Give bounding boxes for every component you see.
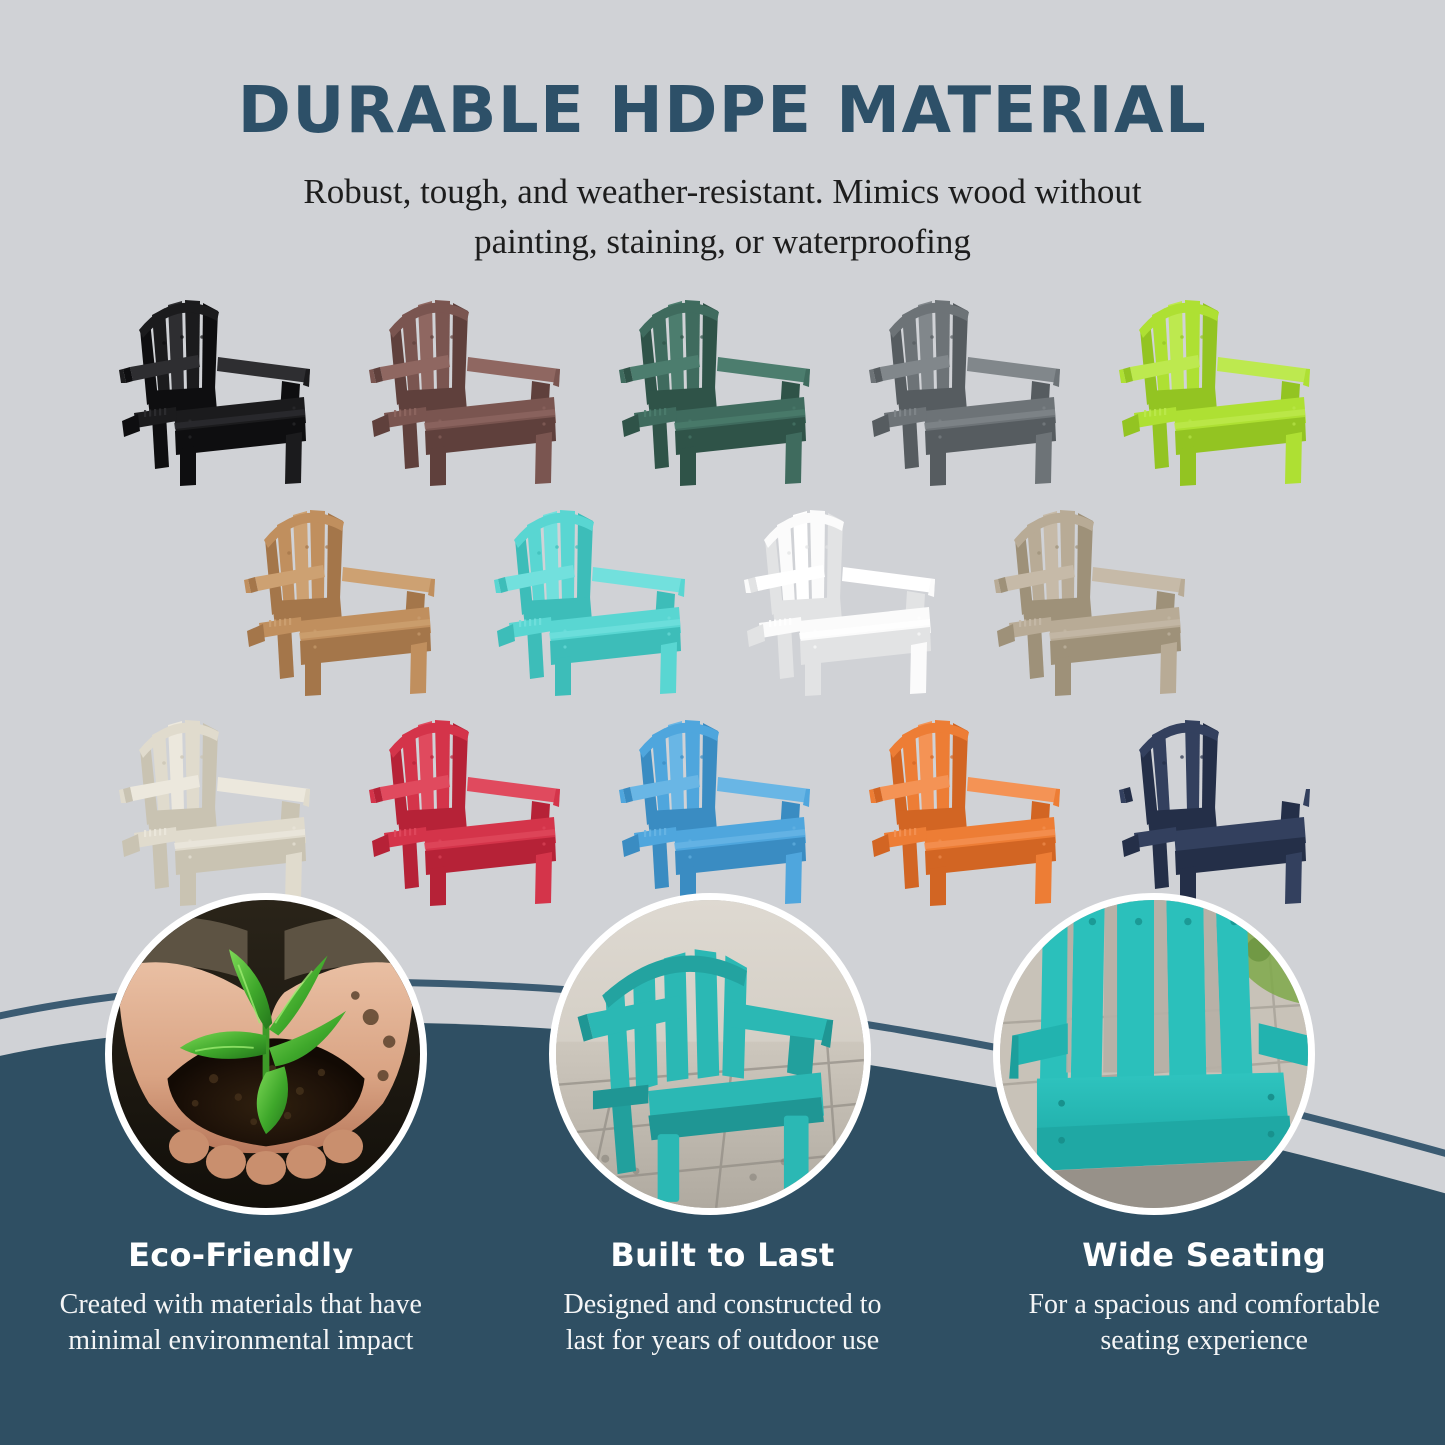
- feature-photos: [0, 893, 1445, 1223]
- chair-row-3: [0, 688, 1445, 910]
- chair-gray[interactable]: [859, 268, 1087, 490]
- adirondack-chair-illustration: [1119, 720, 1310, 906]
- chair-row-2: [0, 478, 1445, 700]
- page-subtitle: Robust, tough, and weather-resistant. Mi…: [0, 167, 1445, 266]
- adirondack-chair-illustration: [869, 300, 1060, 486]
- feature-title: Built to Last: [496, 1236, 950, 1274]
- feature-description: Created with materials that have minimal…: [14, 1287, 468, 1360]
- chair-light-blue[interactable]: [609, 688, 837, 910]
- adirondack-chair-illustration: [369, 300, 560, 486]
- adirondack-chair-illustration: [994, 510, 1185, 696]
- feature-desc-line-1: Designed and constructed to: [496, 1287, 950, 1323]
- adirondack-chair-illustration: [869, 720, 1060, 906]
- adirondack-chair-illustration: [369, 720, 560, 906]
- infographic-page: DURABLE HDPE MATERIAL Robust, tough, and…: [0, 0, 1445, 1445]
- wide-seat-closeup-photo: [993, 893, 1315, 1215]
- chair-teak[interactable]: [234, 478, 462, 700]
- adirondack-chair-illustration: [119, 300, 310, 486]
- adirondack-chair-illustration: [619, 300, 810, 486]
- chair-orange[interactable]: [859, 688, 1087, 910]
- adirondack-chair-illustration: [119, 720, 310, 906]
- subtitle-line-1: Robust, tough, and weather-resistant. Mi…: [0, 167, 1445, 217]
- chair-navy-blue[interactable]: [1109, 688, 1337, 910]
- feature-desc-line-1: Created with materials that have: [14, 1287, 468, 1323]
- adirondack-chair-illustration: [744, 510, 935, 696]
- feature-captions: Eco-Friendly Created with materials that…: [0, 1236, 1445, 1360]
- feature-title: Wide Seating: [977, 1236, 1431, 1274]
- chair-dark-green[interactable]: [609, 268, 837, 490]
- page-title: DURABLE HDPE MATERIAL: [0, 78, 1445, 145]
- chair-white[interactable]: [734, 478, 962, 700]
- turquoise-chair-on-patio-photo: [549, 893, 871, 1215]
- chair-black[interactable]: [109, 268, 337, 490]
- adirondack-chair-illustration: [244, 510, 435, 696]
- feature-desc-line-2: minimal environmental impact: [14, 1323, 468, 1359]
- feature-description: For a spacious and comfortable seating e…: [977, 1287, 1431, 1360]
- adirondack-chair-illustration: [494, 510, 685, 696]
- chair-lime-green[interactable]: [1109, 268, 1337, 490]
- chair-brown[interactable]: [359, 268, 587, 490]
- feature-desc-line-2: last for years of outdoor use: [496, 1323, 950, 1359]
- chair-color-grid: [0, 268, 1445, 910]
- feature-built-to-last: Built to Last Designed and constructed t…: [482, 1236, 964, 1360]
- chair-weathered-wood[interactable]: [984, 478, 1212, 700]
- subtitle-line-2: painting, staining, or waterproofing: [0, 217, 1445, 267]
- chair-ivory[interactable]: [109, 688, 337, 910]
- feature-eco-friendly: Eco-Friendly Created with materials that…: [0, 1236, 482, 1360]
- feature-title: Eco-Friendly: [14, 1236, 468, 1274]
- header: DURABLE HDPE MATERIAL Robust, tough, and…: [0, 0, 1445, 267]
- chair-turquoise[interactable]: [484, 478, 712, 700]
- feature-desc-line-2: seating experience: [977, 1323, 1431, 1359]
- adirondack-chair-illustration: [1119, 300, 1310, 486]
- feature-desc-line-1: For a spacious and comfortable: [977, 1287, 1431, 1323]
- feature-wide-seating: Wide Seating For a spacious and comforta…: [963, 1236, 1445, 1360]
- feature-description: Designed and constructed to last for yea…: [496, 1287, 950, 1360]
- chair-row-1: [0, 268, 1445, 490]
- chair-red[interactable]: [359, 688, 587, 910]
- hands-holding-seedling-photo: [105, 893, 427, 1215]
- adirondack-chair-illustration: [619, 720, 810, 906]
